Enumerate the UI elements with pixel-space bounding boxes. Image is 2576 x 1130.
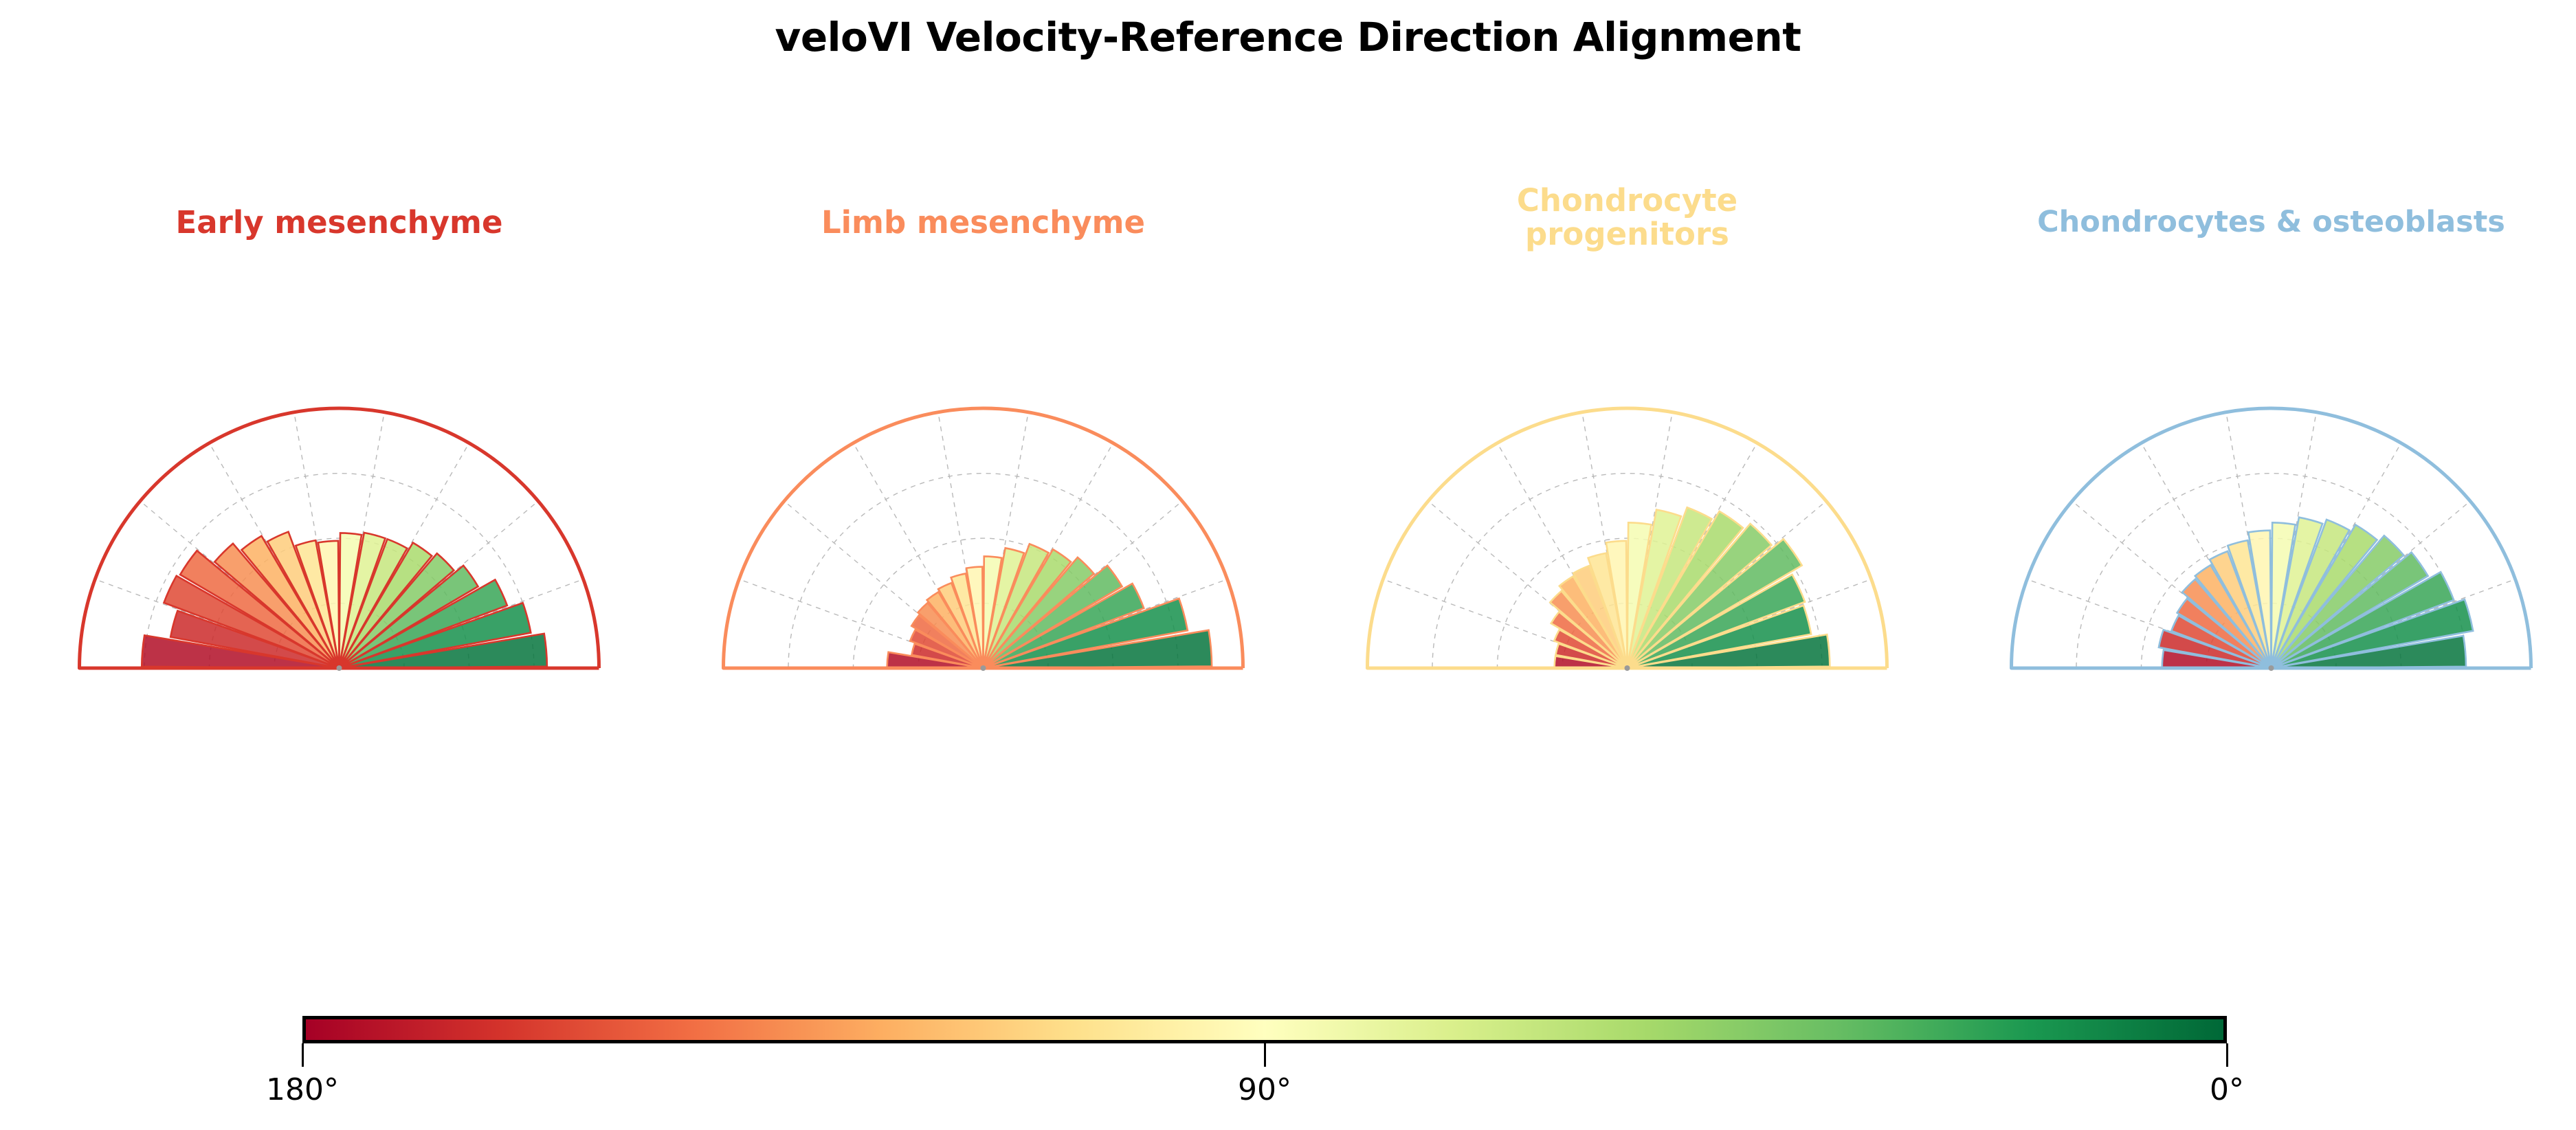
figure-canvas: veloVI Velocity-Reference Direction Alig… [0,0,2576,1130]
page-title: veloVI Velocity-Reference Direction Alig… [0,14,2576,60]
colorbar-gradient [306,1019,2223,1040]
colorbar-tick-1 [1264,1043,1266,1067]
polar-panel-early-mesenchyme[interactable]: Early mesenchyme [17,206,661,701]
colorbar-tick-0 [302,1043,304,1067]
polar-axes [1305,385,1949,701]
panel-title-early-mesenchyme: Early mesenchyme [17,206,661,240]
polar-panel-chondrocyte-progenitors[interactable]: Chondrocyte progenitors [1305,184,1949,679]
polar-origin-marker [981,665,986,671]
polar-bars[interactable] [2159,518,2473,668]
polar-origin-marker [2269,665,2274,671]
polar-panel-chondrocytes-osteoblasts[interactable]: Chondrocytes & osteoblasts [1949,206,2576,701]
polar-plot-early-mesenchyme[interactable] [17,385,661,701]
polar-plot-chondrocyte-progenitors[interactable] [1305,385,1949,701]
polar-panel-limb-mesenchyme[interactable]: Limb mesenchyme [661,206,1305,701]
polar-plot-limb-mesenchyme[interactable] [661,385,1305,701]
polar-bars[interactable] [142,532,547,668]
polar-origin-marker [1625,665,1630,671]
polar-bars[interactable] [887,544,1212,668]
panel-title-limb-mesenchyme: Limb mesenchyme [661,206,1305,240]
polar-bars[interactable] [1550,507,1830,668]
colorbar-tick-label-0: 180° [266,1072,339,1107]
polar-origin-marker [337,665,342,671]
panel-title-chondrocyte-progenitors: Chondrocyte progenitors [1305,184,1949,251]
panel-title-chondrocytes-osteoblasts: Chondrocytes & osteoblasts [1949,206,2576,238]
colorbar-tick-2 [2226,1043,2228,1067]
colorbar-tick-label-2: 0° [2210,1072,2244,1107]
polar-axes [17,385,661,701]
polar-plot-chondrocytes-osteoblasts[interactable] [1949,385,2576,701]
polar-axes [1949,385,2576,701]
polar-axes [661,385,1305,701]
colorbar-tick-label-1: 90° [1238,1072,1291,1107]
colorbar-track[interactable] [302,1016,2227,1043]
colorbar[interactable]: 180°90°0° [0,1004,2576,1130]
